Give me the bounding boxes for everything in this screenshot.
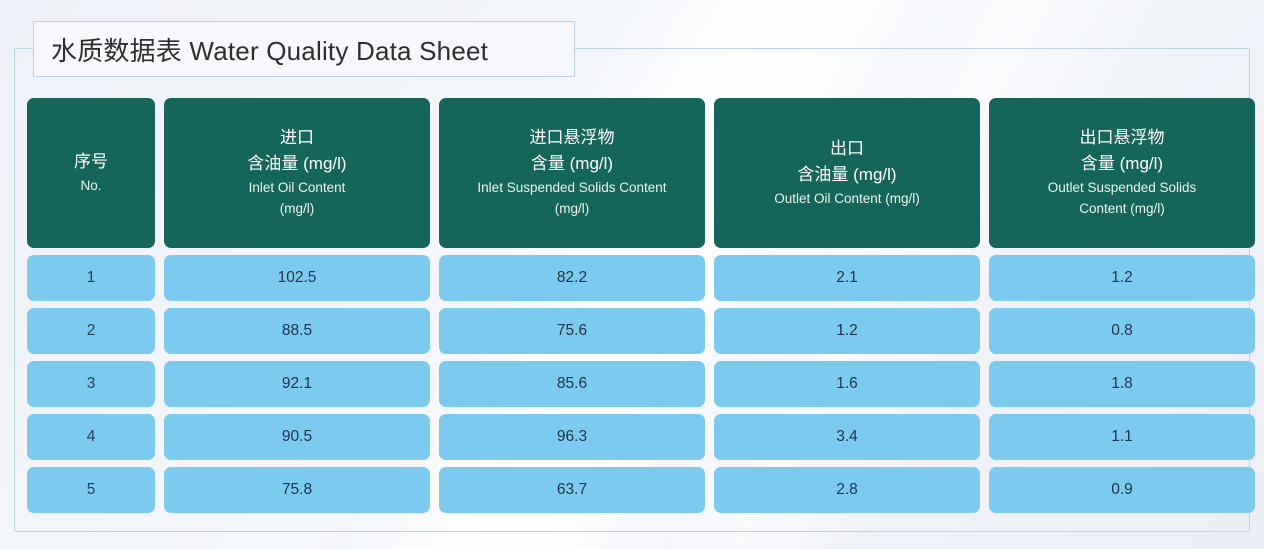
table-cell-inlet_oil: 90.5 bbox=[164, 414, 430, 460]
header-line: 序号 bbox=[74, 151, 108, 174]
table-cell-outlet_oil: 2.1 bbox=[714, 255, 980, 301]
header-line: 出口悬浮物 bbox=[1080, 127, 1165, 150]
table-header-cell-inlet_oil: 进口含油量 (mg/l)Inlet Oil Content(mg/l) bbox=[164, 98, 430, 248]
header-line: 含量 (mg/l) bbox=[1081, 153, 1163, 176]
header-line: No. bbox=[80, 177, 101, 195]
table-header-cell-no: 序号No. bbox=[27, 98, 155, 248]
table-row: 392.185.61.61.8 bbox=[27, 361, 1237, 407]
header-line: Outlet Suspended Solids bbox=[1048, 179, 1197, 197]
table-cell-outlet_oil: 1.6 bbox=[714, 361, 980, 407]
table-row: 288.575.61.20.8 bbox=[27, 308, 1237, 354]
header-line: 进口 bbox=[280, 127, 314, 150]
table-cell-inlet_oil: 75.8 bbox=[164, 467, 430, 513]
table-cell-outlet_ss: 1.8 bbox=[989, 361, 1255, 407]
stage: 水质数据表 Water Quality Data Sheet 序号No.进口含油… bbox=[0, 0, 1264, 549]
table-cell-outlet_ss: 1.1 bbox=[989, 414, 1255, 460]
table-row: 490.596.33.41.1 bbox=[27, 414, 1237, 460]
title-box: 水质数据表 Water Quality Data Sheet bbox=[33, 21, 575, 77]
table-header-cell-inlet_ss: 进口悬浮物含量 (mg/l)Inlet Suspended Solids Con… bbox=[439, 98, 705, 248]
table-row: 1102.582.22.11.2 bbox=[27, 255, 1237, 301]
table-cell-outlet_ss: 1.2 bbox=[989, 255, 1255, 301]
table-body: 1102.582.22.11.2288.575.61.20.8392.185.6… bbox=[27, 255, 1237, 513]
header-line: Inlet Suspended Solids Content bbox=[477, 179, 666, 197]
table-cell-outlet_ss: 0.9 bbox=[989, 467, 1255, 513]
table-cell-inlet_ss: 75.6 bbox=[439, 308, 705, 354]
header-line: Outlet Oil Content (mg/l) bbox=[774, 190, 920, 208]
table-row: 575.863.72.80.9 bbox=[27, 467, 1237, 513]
table-cell-inlet_ss: 82.2 bbox=[439, 255, 705, 301]
table-cell-inlet_ss: 96.3 bbox=[439, 414, 705, 460]
table-cell-outlet_oil: 3.4 bbox=[714, 414, 980, 460]
row-index-cell: 3 bbox=[27, 361, 155, 407]
header-line: Content (mg/l) bbox=[1079, 200, 1165, 218]
table-cell-outlet_oil: 2.8 bbox=[714, 467, 980, 513]
table-cell-inlet_oil: 92.1 bbox=[164, 361, 430, 407]
row-index-cell: 4 bbox=[27, 414, 155, 460]
page-title: 水质数据表 Water Quality Data Sheet bbox=[51, 31, 488, 68]
header-line: Inlet Oil Content bbox=[249, 179, 346, 197]
header-line: 含油量 (mg/l) bbox=[247, 153, 346, 176]
table-cell-outlet_ss: 0.8 bbox=[989, 308, 1255, 354]
row-index-cell: 5 bbox=[27, 467, 155, 513]
table-header-row: 序号No.进口含油量 (mg/l)Inlet Oil Content(mg/l)… bbox=[27, 98, 1237, 248]
table-header-cell-outlet_ss: 出口悬浮物含量 (mg/l)Outlet Suspended SolidsCon… bbox=[989, 98, 1255, 248]
water-quality-table: 序号No.进口含油量 (mg/l)Inlet Oil Content(mg/l)… bbox=[27, 98, 1237, 513]
table-cell-outlet_oil: 1.2 bbox=[714, 308, 980, 354]
table-cell-inlet_ss: 85.6 bbox=[439, 361, 705, 407]
table-cell-inlet_oil: 102.5 bbox=[164, 255, 430, 301]
row-index-cell: 2 bbox=[27, 308, 155, 354]
table-header-cell-outlet_oil: 出口含油量 (mg/l)Outlet Oil Content (mg/l) bbox=[714, 98, 980, 248]
header-line: 含量 (mg/l) bbox=[531, 153, 613, 176]
table-cell-inlet_oil: 88.5 bbox=[164, 308, 430, 354]
header-line: 含油量 (mg/l) bbox=[797, 164, 896, 187]
row-index-cell: 1 bbox=[27, 255, 155, 301]
header-line: (mg/l) bbox=[280, 200, 315, 218]
header-line: 进口悬浮物 bbox=[530, 127, 615, 150]
header-line: 出口 bbox=[830, 138, 864, 161]
header-line: (mg/l) bbox=[555, 200, 590, 218]
table-cell-inlet_ss: 63.7 bbox=[439, 467, 705, 513]
